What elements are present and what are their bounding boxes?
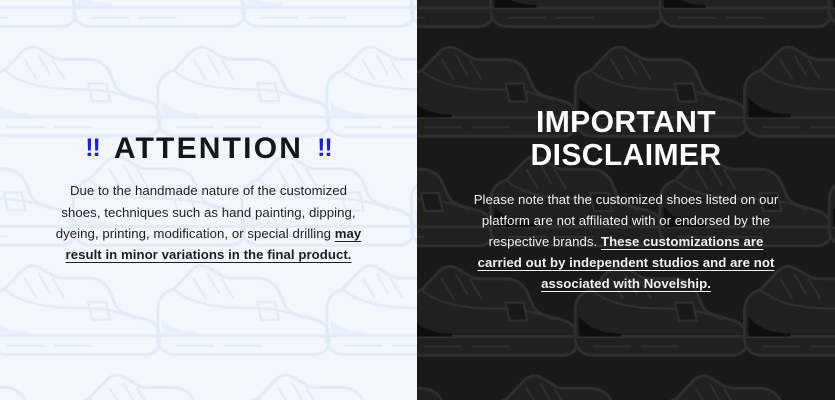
disclaimer-body: Please note that the customized shoes li…: [465, 189, 787, 295]
attention-panel: !! ATTENTION !! Due to the handmade natu…: [0, 0, 417, 400]
attention-heading-text: ATTENTION: [114, 134, 303, 164]
attention-content: !! ATTENTION !! Due to the handmade natu…: [0, 134, 417, 266]
disclaimer-panel: IMPORTANT DISCLAIMER Please note that th…: [417, 0, 835, 400]
disclaimer-heading-line-2: DISCLAIMER: [452, 139, 799, 172]
exclamation-left-icon: !!: [85, 136, 100, 161]
attention-body-plain: Due to the handmade nature of the custom…: [56, 183, 356, 241]
attention-body: Due to the handmade nature of the custom…: [54, 180, 364, 266]
disclaimer-content: IMPORTANT DISCLAIMER Please note that th…: [417, 106, 835, 294]
attention-heading: !! ATTENTION !!: [30, 134, 387, 164]
disclaimer-heading-line-1: IMPORTANT: [452, 106, 799, 139]
disclaimer-heading: IMPORTANT DISCLAIMER: [452, 106, 799, 172]
disclaimer-banner: !! ATTENTION !! Due to the handmade natu…: [0, 0, 835, 400]
exclamation-right-icon: !!: [317, 136, 332, 161]
